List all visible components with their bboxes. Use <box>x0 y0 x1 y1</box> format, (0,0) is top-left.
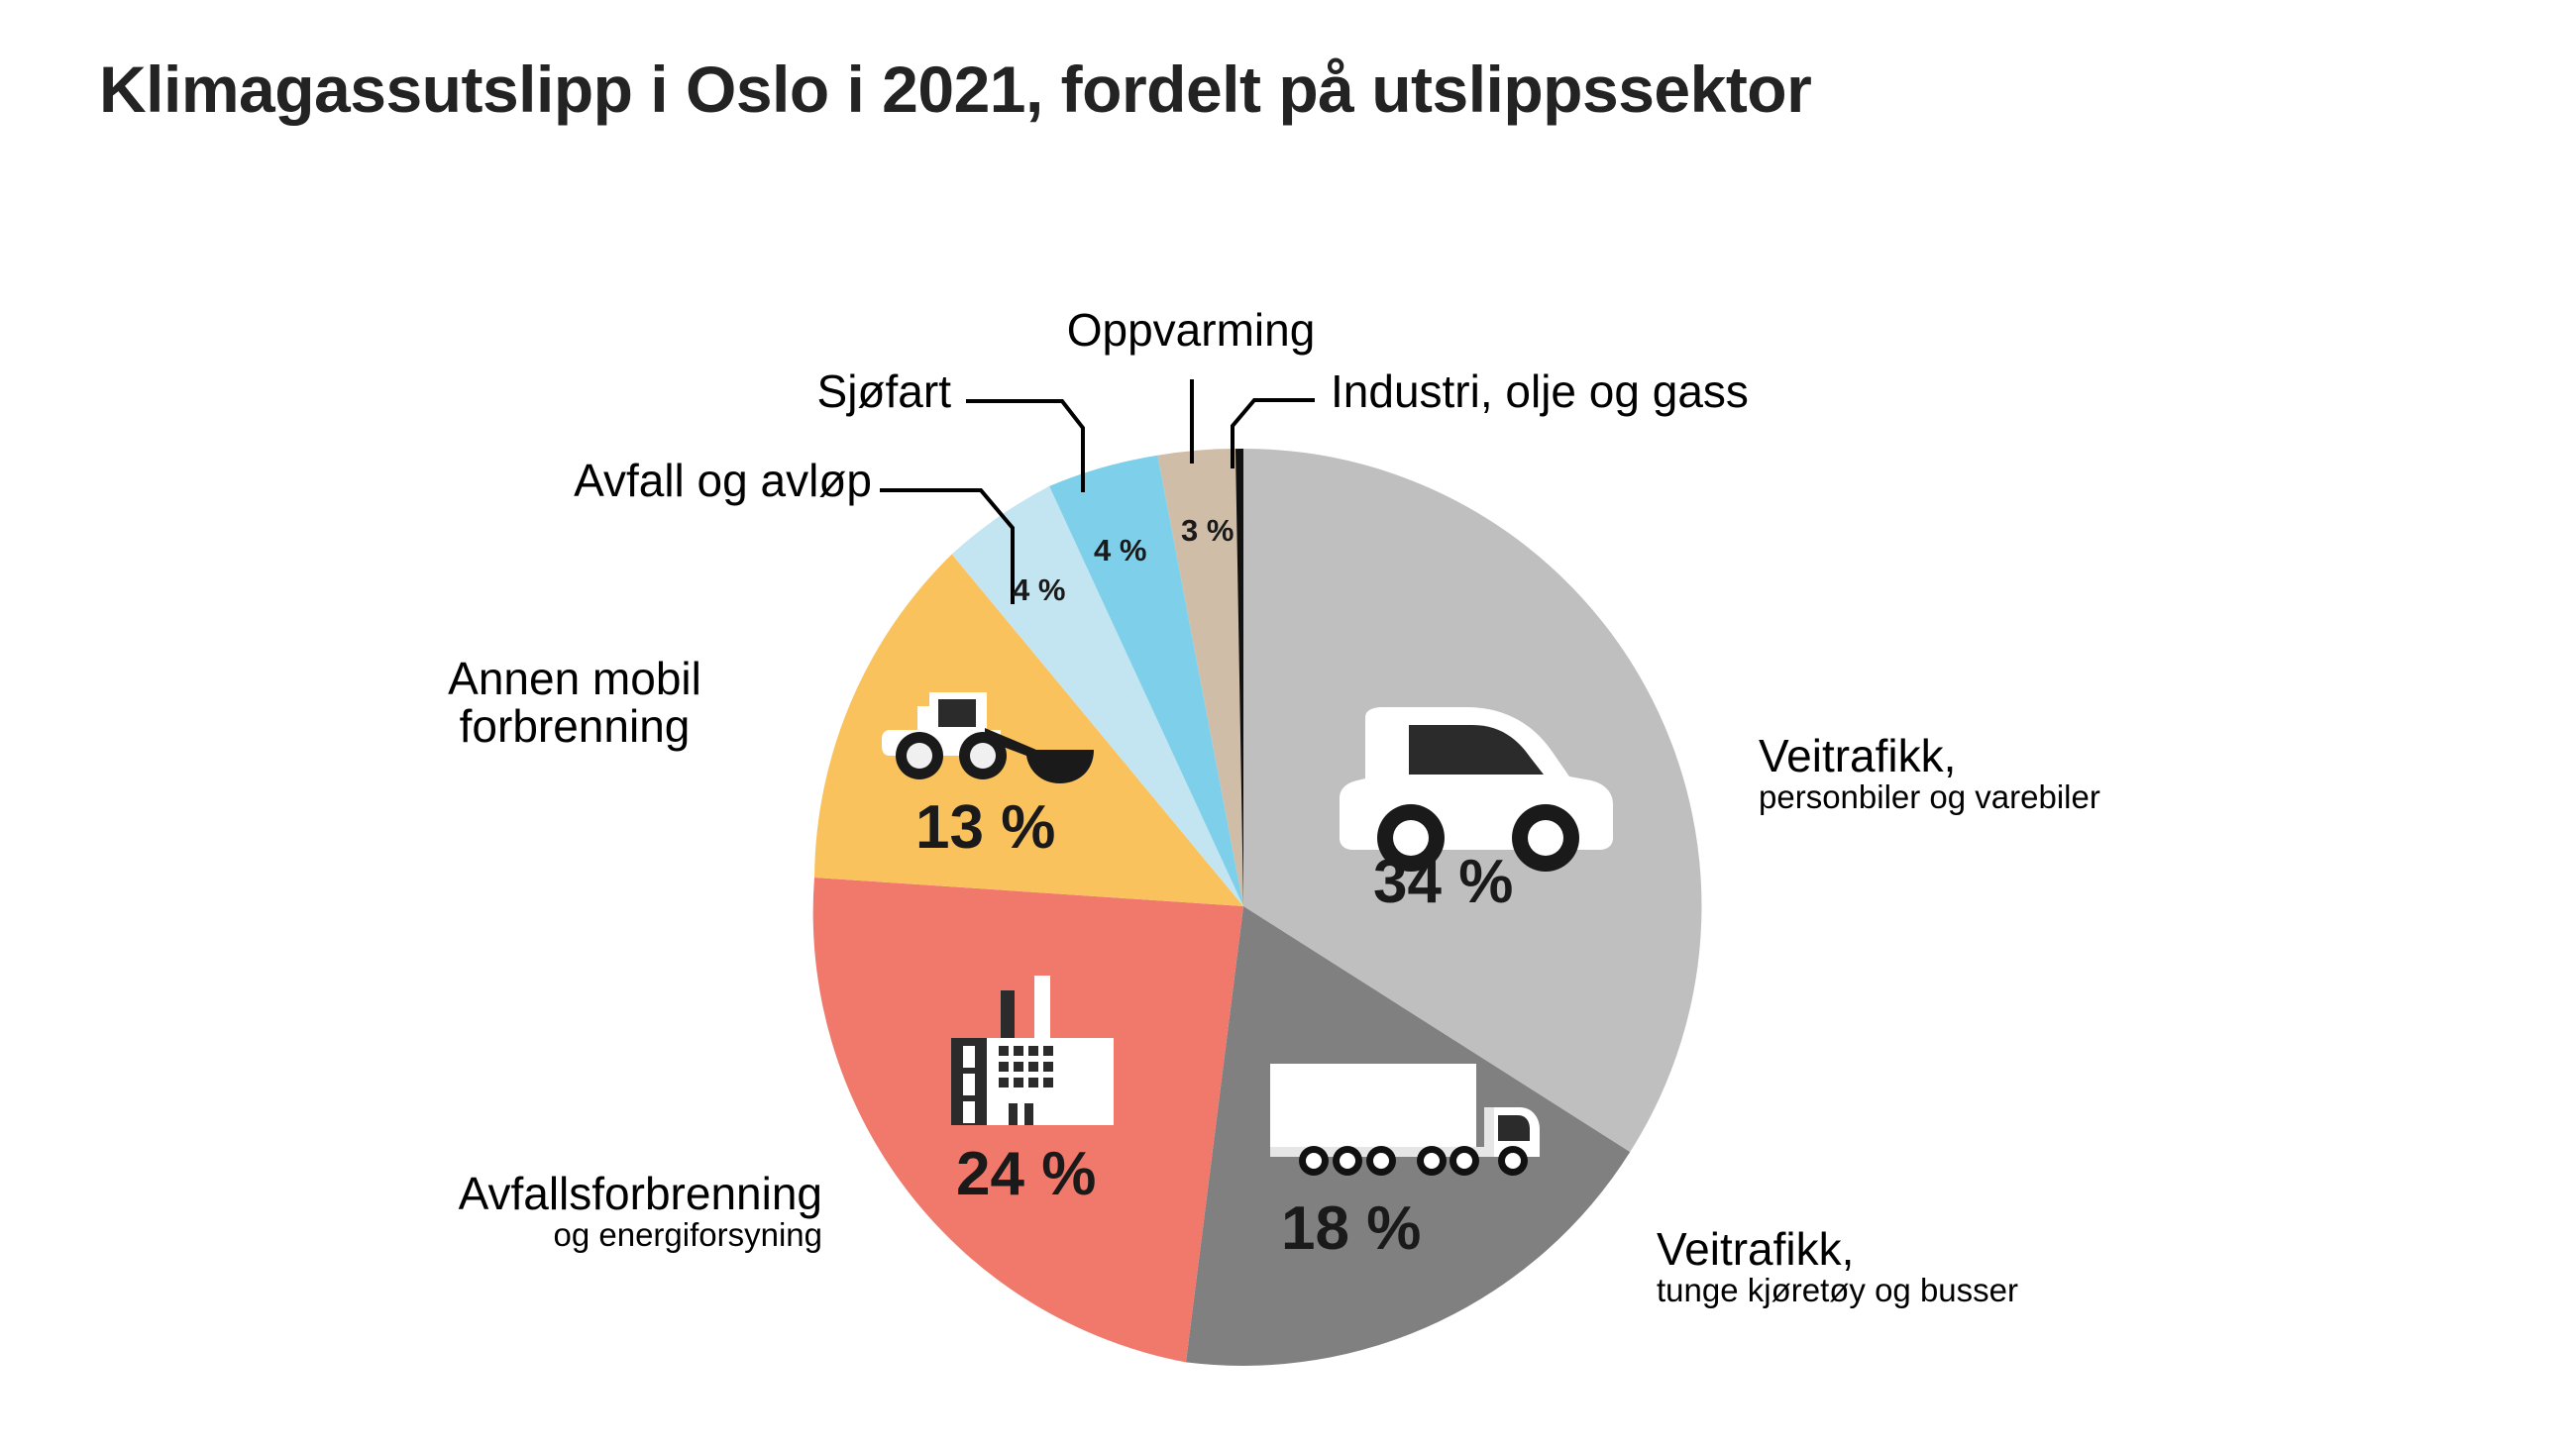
label-veitrafikk-personbiler: Veitrafikk, personbiler og varebiler <box>1759 733 2512 814</box>
slice-percent-avfall-og-avlop: 4 % <box>1013 572 1065 608</box>
slice-percent-industri-olje-gass: 3 % <box>1181 513 1234 549</box>
label-annen-mobil-forbrenning-line1: Annen mobil <box>367 656 783 703</box>
slice-percent-veitrafikk-tunge: 18 % <box>1281 1193 1421 1264</box>
label-avfallsforbrenning-line2: og energiforsyning <box>139 1218 822 1252</box>
label-veitrafikk-tunge-line1: Veitrafikk, <box>1657 1226 2429 1274</box>
slice-percent-veitrafikk-personbiler: 34 % <box>1373 847 1513 917</box>
label-oppvarming: Oppvarming <box>723 307 1659 355</box>
label-veitrafikk-personbiler-line1: Veitrafikk, <box>1759 733 2512 780</box>
label-annen-mobil-forbrenning-line2: forbrenning <box>367 703 783 751</box>
slice-percent-annen-mobil-forbrenning: 13 % <box>915 792 1055 863</box>
slice-percent-avfallsforbrenning: 24 % <box>956 1139 1096 1209</box>
label-veitrafikk-personbiler-line2: personbiler og varebiler <box>1759 780 2512 814</box>
label-avfallsforbrenning-line1: Avfallsforbrenning <box>139 1171 822 1218</box>
slice-percent-sjofart: 4 % <box>1094 533 1146 569</box>
label-veitrafikk-tunge: Veitrafikk, tunge kjøretøy og busser <box>1657 1226 2429 1307</box>
label-avfall-og-avlop: Avfall og avløp <box>178 458 872 505</box>
label-avfall-og-avlop-line1: Avfall og avløp <box>178 458 872 505</box>
label-industri-olje-gass-line1: Industri, olje og gass <box>1331 368 2222 416</box>
label-veitrafikk-tunge-line2: tunge kjøretøy og busser <box>1657 1274 2429 1307</box>
label-oppvarming-line1: Oppvarming <box>723 307 1659 355</box>
label-sjofart-line1: Sjøfart <box>277 368 951 416</box>
leader-line-sjofart <box>966 401 1083 492</box>
label-sjofart: Sjøfart <box>277 368 951 416</box>
label-annen-mobil-forbrenning: Annen mobil forbrenning <box>367 656 783 751</box>
pie-chart: 34 % 18 % 24 % 13 % 4 % 4 % 3 % Avfall o… <box>0 0 2576 1449</box>
label-industri-olje-gass: Industri, olje og gass <box>1331 368 2222 416</box>
label-avfallsforbrenning: Avfallsforbrenning og energiforsyning <box>139 1171 822 1252</box>
